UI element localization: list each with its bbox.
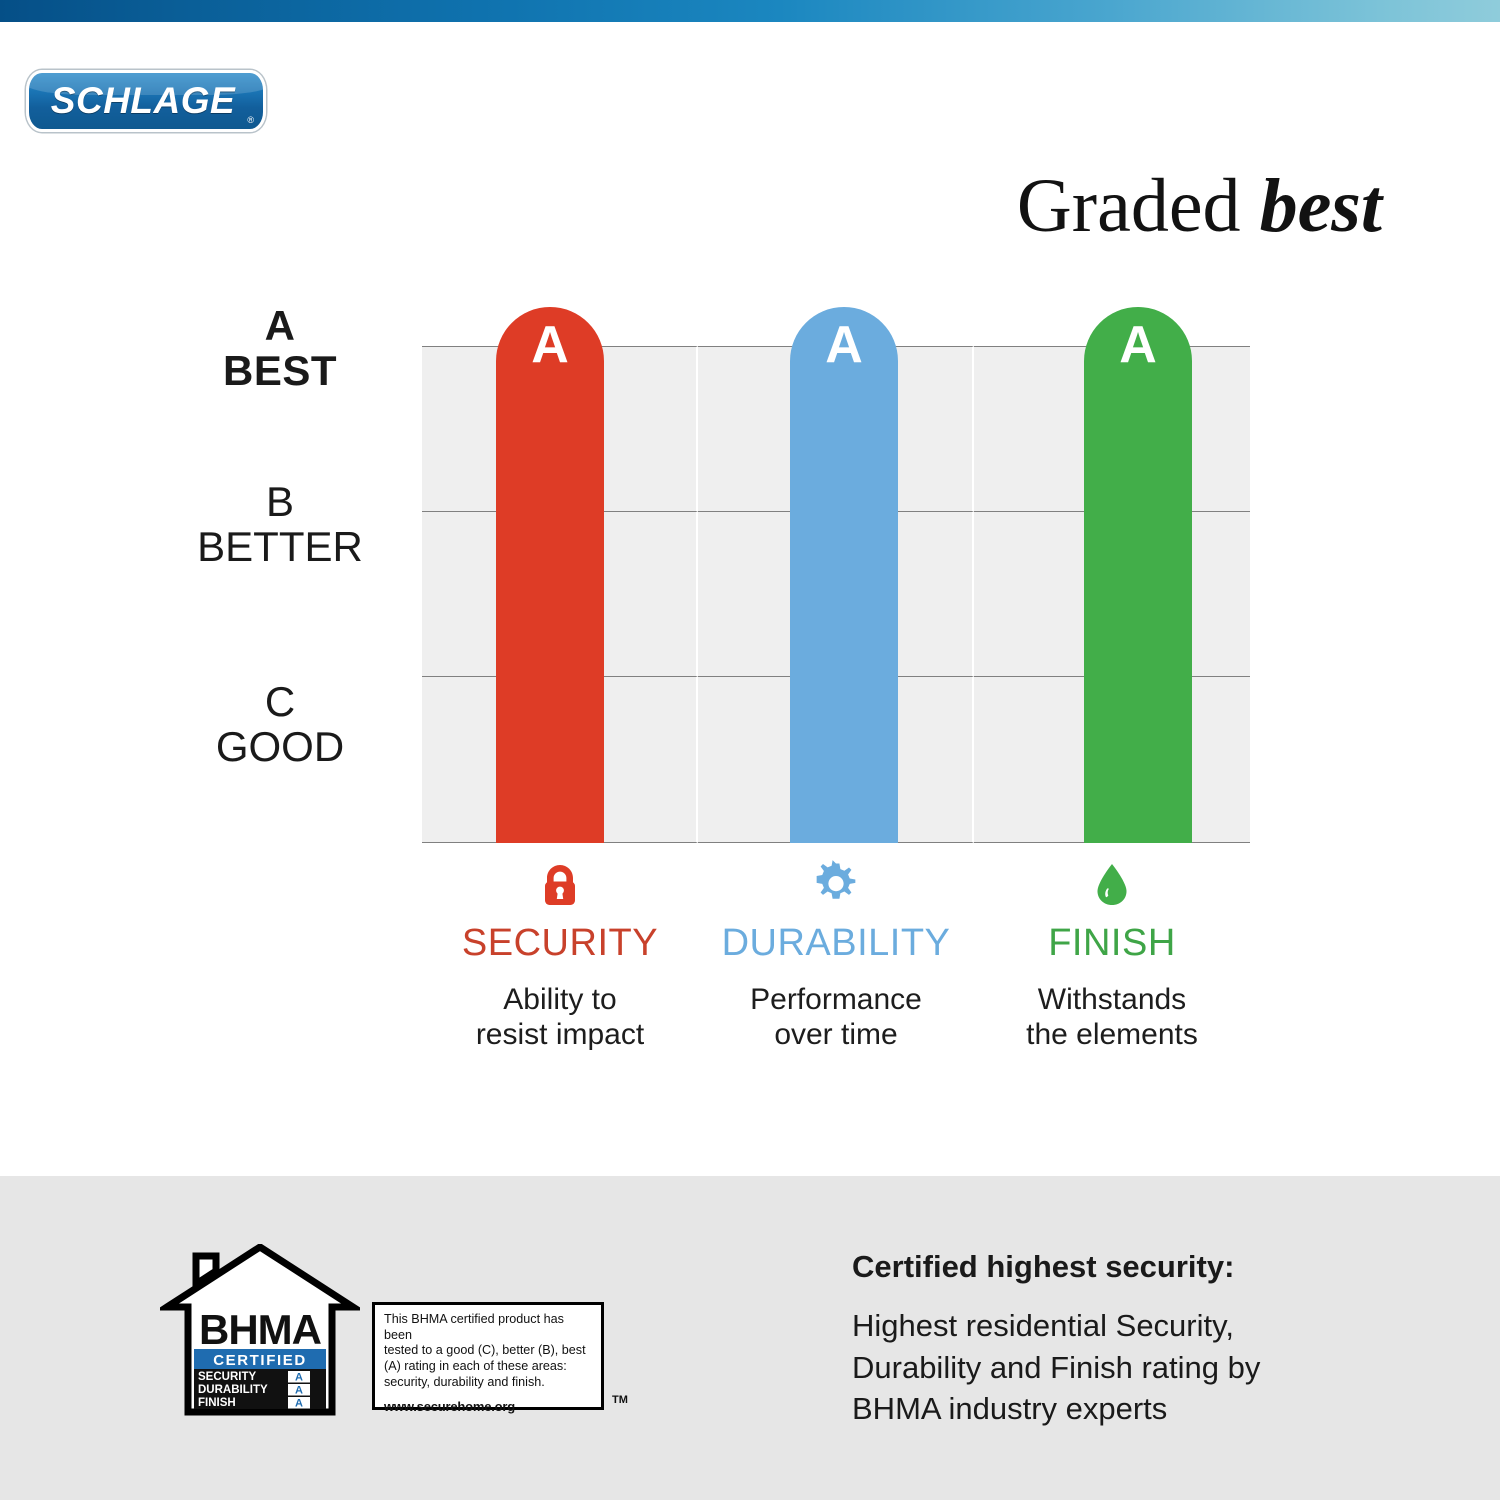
axis-label-a-letter: A <box>180 304 380 349</box>
axis-label-c-letter: C <box>180 680 380 725</box>
svg-text:A: A <box>295 1385 303 1397</box>
svg-text:SECURITY: SECURITY <box>198 1371 256 1383</box>
legend-desc-security: Ability to resist impact <box>476 982 644 1053</box>
svg-text:A: A <box>295 1398 303 1410</box>
bar-grade-durability: A <box>790 319 898 371</box>
bar-grade-security: A <box>496 319 604 371</box>
bar-security: A <box>496 307 604 843</box>
axis-label-c-word: GOOD <box>180 725 380 770</box>
page-title: Graded best <box>1017 168 1382 244</box>
svg-text:FINISH: FINISH <box>198 1397 236 1409</box>
svg-text:BHMA: BHMA <box>199 1306 322 1353</box>
axis-label-a-word: BEST <box>180 349 380 394</box>
footer-heading: Certified highest security: <box>852 1248 1412 1285</box>
headline-regular: Graded <box>1017 164 1260 248</box>
legend-item-security: SECURITY Ability to resist impact <box>422 858 698 1053</box>
axis-label-b-word: BETTER <box>180 525 380 570</box>
chart-legend: SECURITY Ability to resist impact DURABI… <box>422 858 1250 1053</box>
axis-label-b-letter: B <box>180 480 380 525</box>
grade-bar-chart: A A A <box>422 346 1250 843</box>
footer-copy: Certified highest security: Highest resi… <box>852 1248 1412 1430</box>
droplet-icon <box>1086 858 1138 910</box>
axis-label-a-best: A BEST <box>180 304 380 393</box>
legend-item-finish: FINISH Withstands the elements <box>974 858 1250 1053</box>
gear-icon <box>810 858 862 910</box>
headline-emphasis: best <box>1260 164 1382 248</box>
legend-title-durability: DURABILITY <box>722 924 951 962</box>
axis-label-c-good: C GOOD <box>180 680 380 769</box>
footer-body: Highest residential Security, Durability… <box>852 1305 1412 1430</box>
bhma-description-box: This BHMA certified product has been tes… <box>372 1302 604 1410</box>
bhma-certification-mark: BHMA CERTIFIED SECURITY A DURABILITY A F… <box>160 1244 630 1426</box>
legend-desc-finish: Withstands the elements <box>1026 982 1198 1053</box>
bar-finish: A <box>1084 307 1192 843</box>
bhma-house-logo: BHMA CERTIFIED SECURITY A DURABILITY A F… <box>160 1244 360 1416</box>
registered-trademark-icon: ® <box>247 116 254 125</box>
bar-grade-finish: A <box>1084 319 1192 371</box>
padlock-icon <box>534 858 586 910</box>
legend-desc-durability: Performance over time <box>750 982 922 1053</box>
legend-title-security: SECURITY <box>462 924 658 962</box>
axis-label-b-better: B BETTER <box>180 480 380 569</box>
legend-item-durability: DURABILITY Performance over time <box>698 858 974 1053</box>
svg-text:DURABILITY: DURABILITY <box>198 1384 268 1396</box>
svg-text:A: A <box>295 1372 303 1384</box>
top-gradient-banner <box>0 0 1500 22</box>
schlage-logo: SCHLAGE ® <box>26 70 266 132</box>
bhma-trademark-mark: TM <box>612 1394 628 1406</box>
legend-title-finish: FINISH <box>1048 924 1176 962</box>
bar-durability: A <box>790 307 898 843</box>
svg-text:CERTIFIED: CERTIFIED <box>213 1352 307 1369</box>
logo-wordmark: SCHLAGE <box>26 70 266 132</box>
bhma-url-link[interactable]: www.securehome.org <box>384 1399 593 1414</box>
bhma-description-text: This BHMA certified product has been tes… <box>384 1312 593 1391</box>
